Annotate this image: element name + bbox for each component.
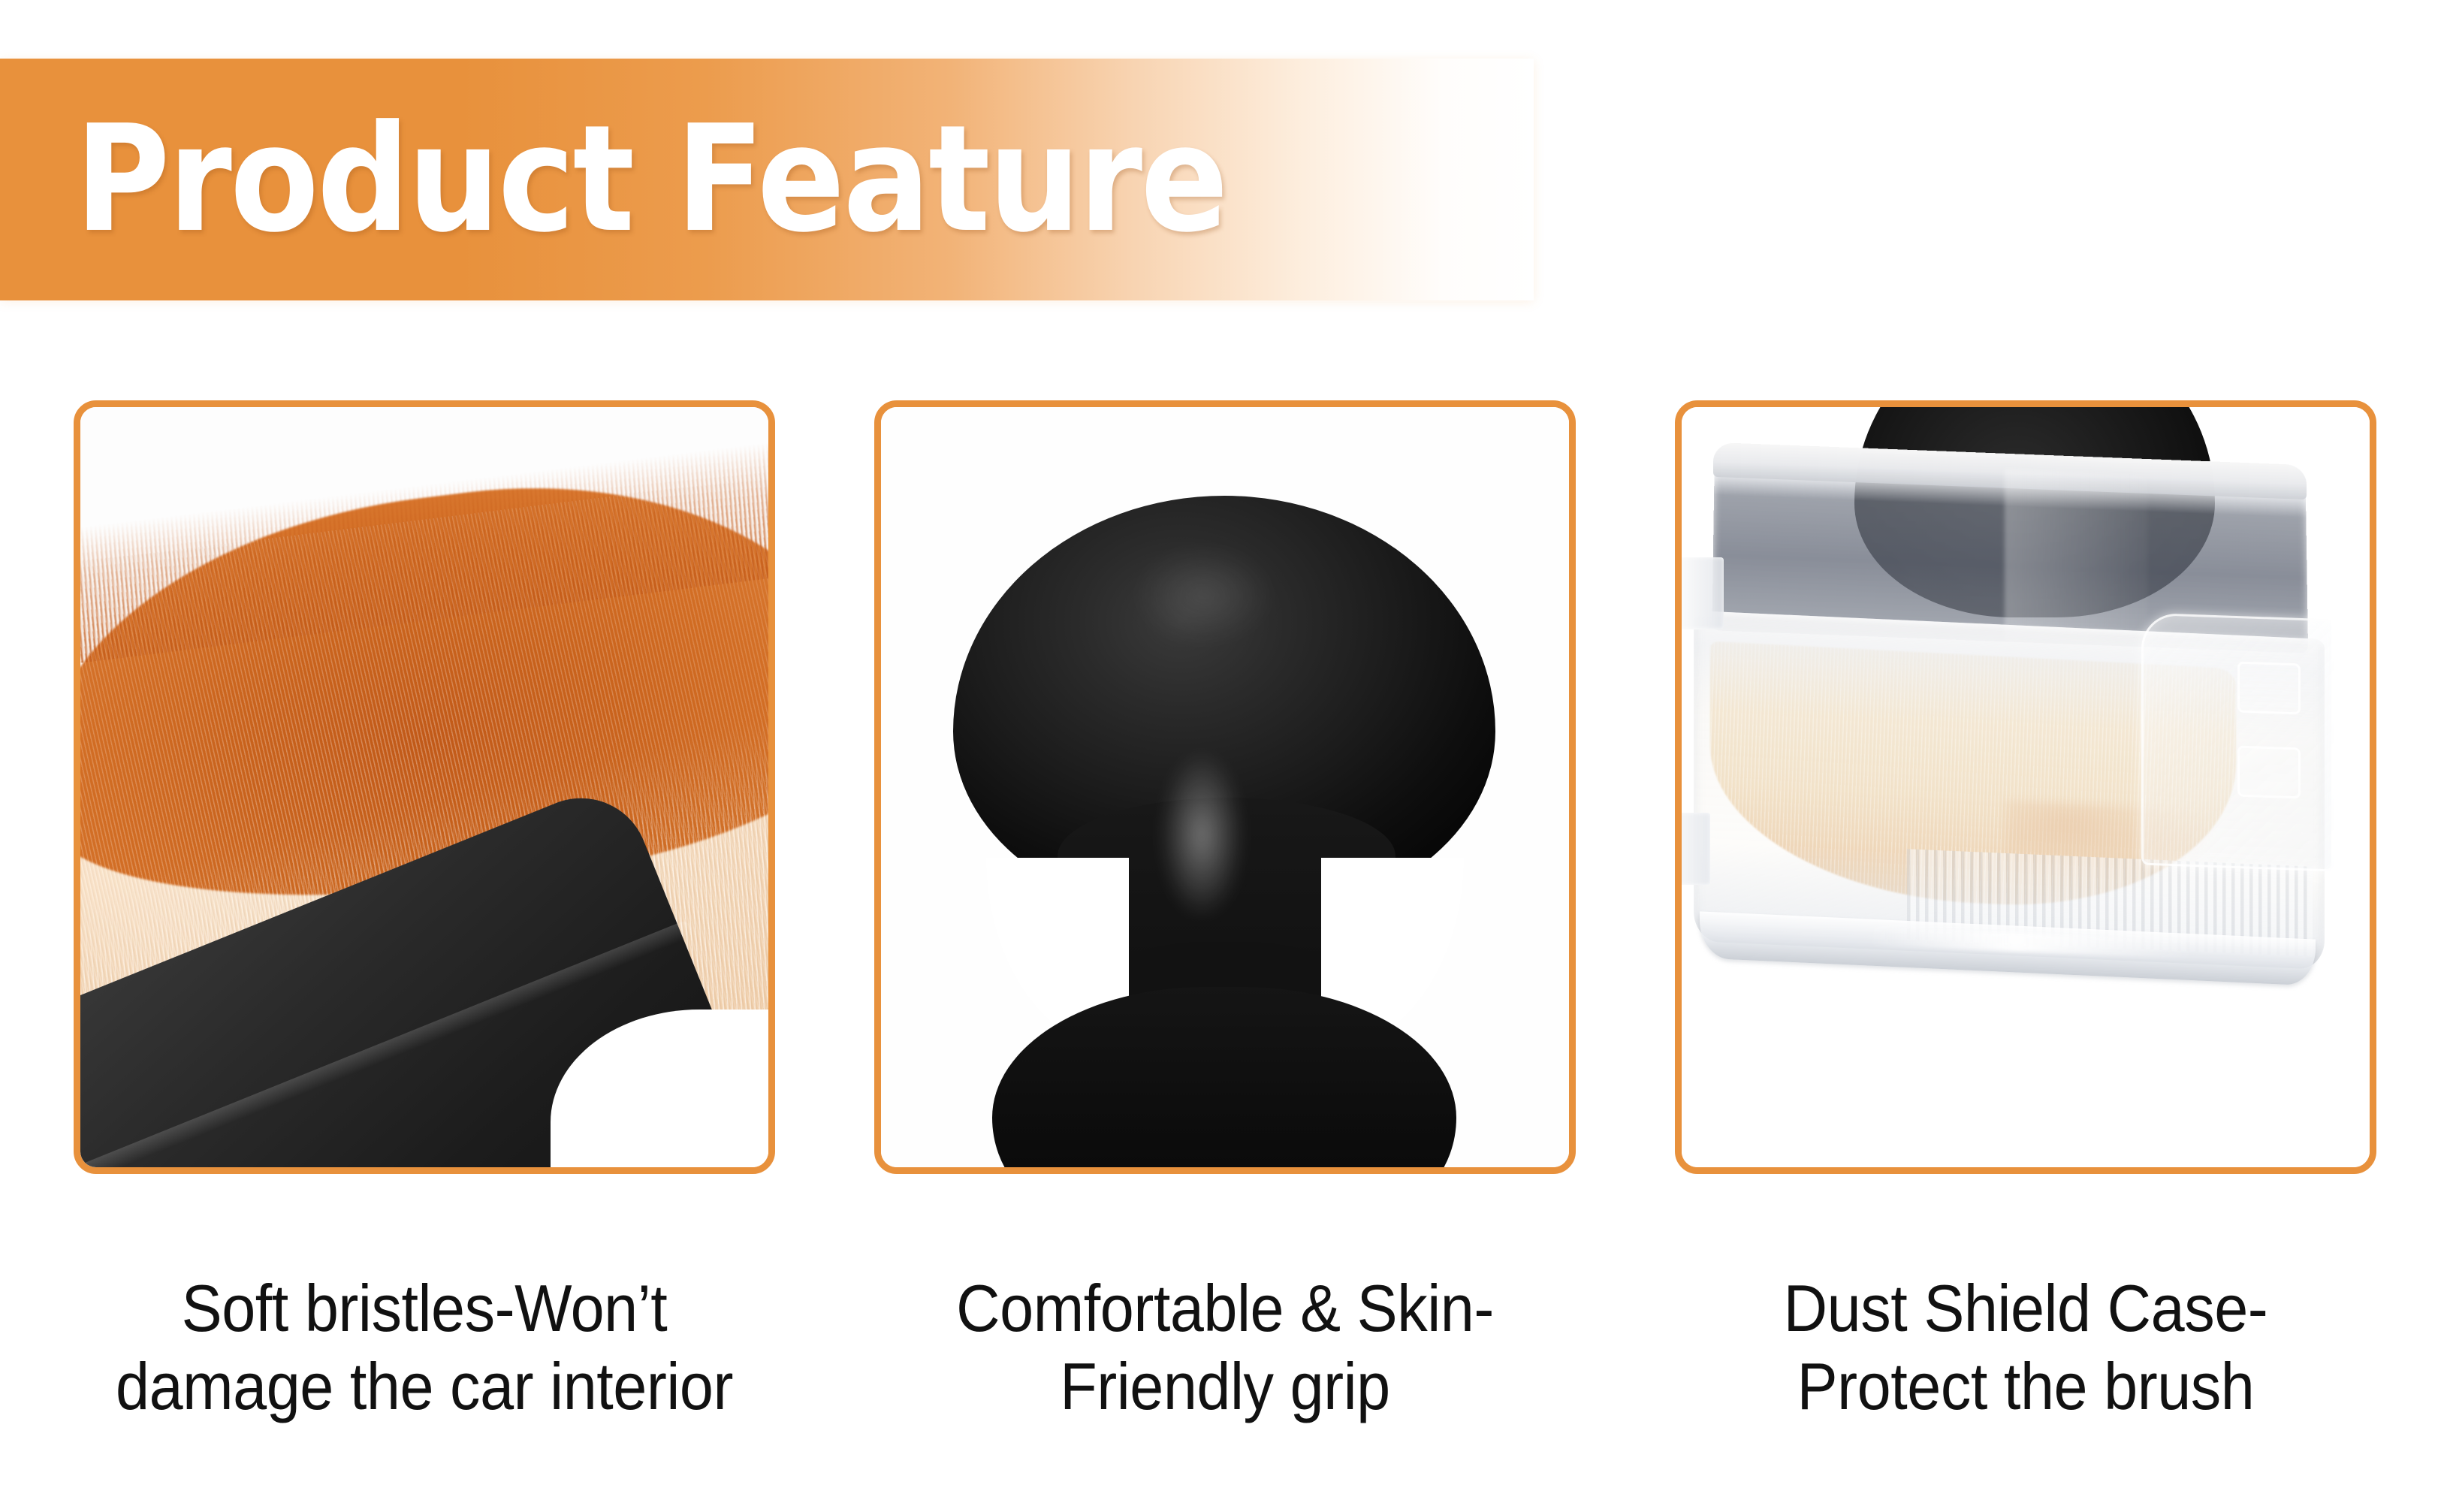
feature-cards-row (74, 400, 2376, 1174)
feature-caption-soft-bristles: Soft bristles-Won’t damage the car inter… (101, 1269, 747, 1426)
feature-captions-row: Soft bristles-Won’t damage the car inter… (74, 1269, 2376, 1426)
black-grip-image (881, 407, 1569, 1167)
feature-caption-comfortable-grip: Comfortable & Skin-Friendly grip (902, 1269, 1547, 1426)
header-banner: Product Feature (0, 59, 1534, 300)
feature-caption-dust-shield-case: Dust Shield Case-Protect the brush (1703, 1269, 2348, 1426)
bristles-closeup-image (80, 407, 768, 1167)
feature-card-comfortable-grip[interactable] (874, 400, 1576, 1174)
page-title: Product Feature (75, 106, 1227, 253)
feature-card-dust-shield-case[interactable] (1675, 400, 2376, 1174)
dust-shield-case-image (1682, 407, 2370, 1167)
feature-card-soft-bristles[interactable] (74, 400, 775, 1174)
